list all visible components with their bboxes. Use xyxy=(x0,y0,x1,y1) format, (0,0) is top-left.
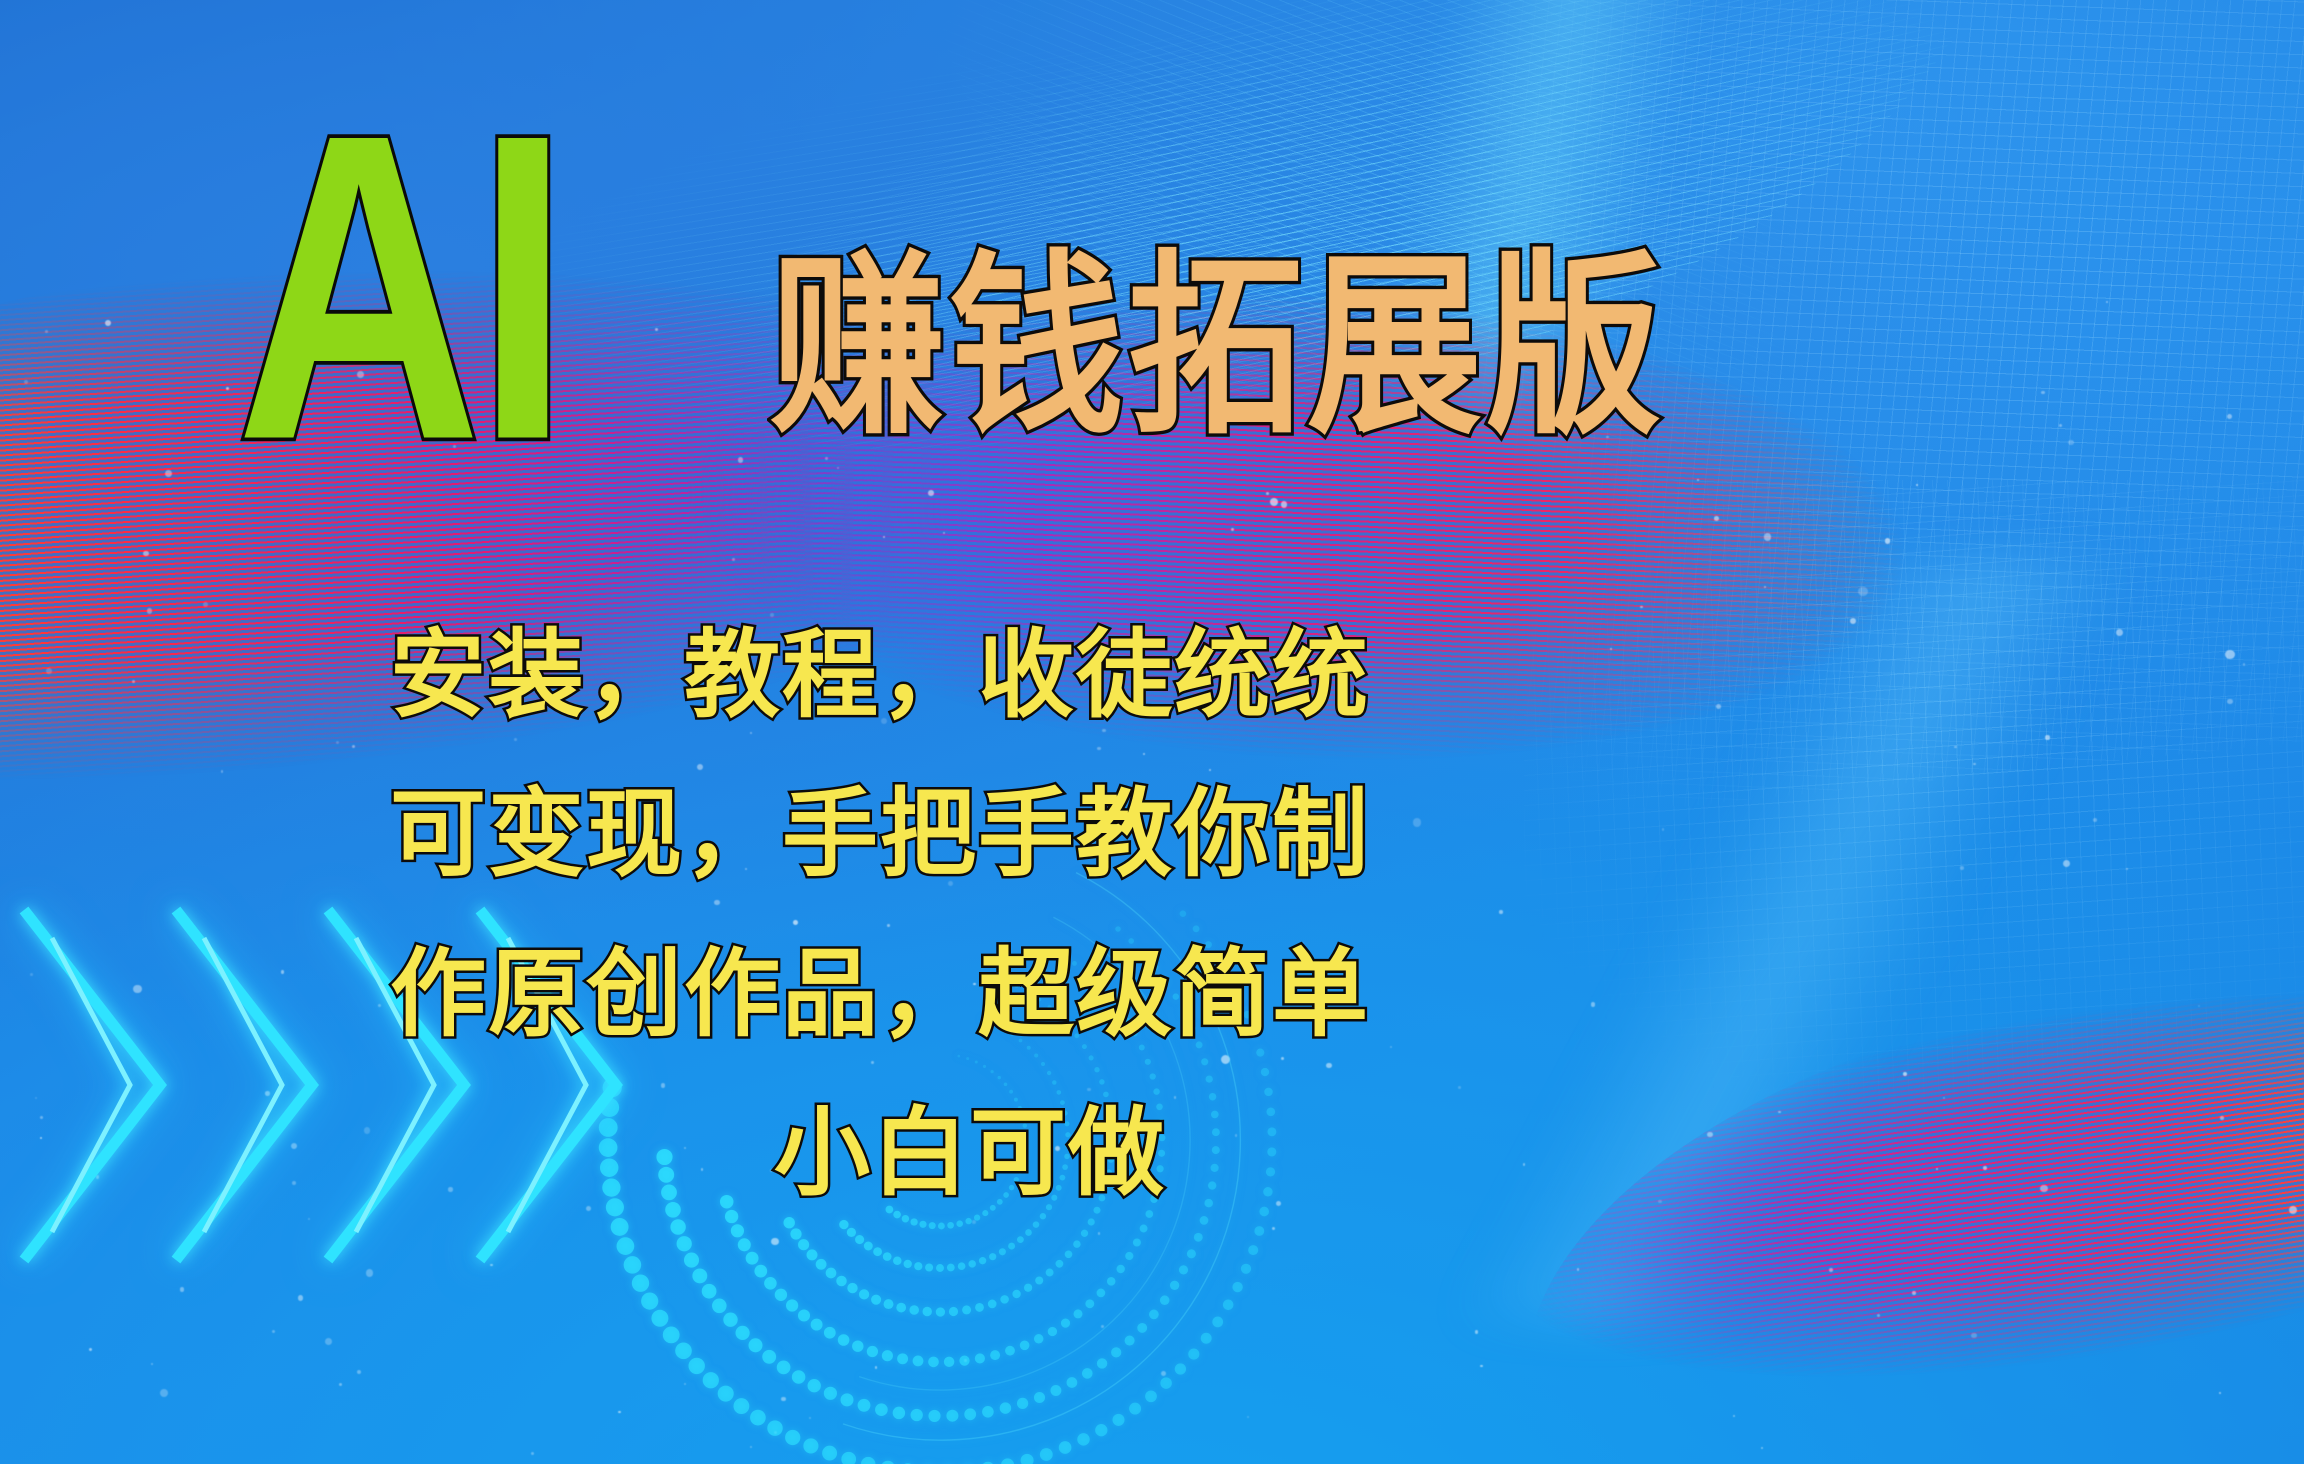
subtitle-line-3: 作原创作品，超级简单 xyxy=(0,915,1760,1074)
headline-block: AI 赚钱拓展版 安装，教程，收徒统统 可变现，手把手教你制 作原创作品，超级简… xyxy=(0,0,2304,1464)
promo-poster: AI 赚钱拓展版 安装，教程，收徒统统 可变现，手把手教你制 作原创作品，超级简… xyxy=(0,0,2304,1464)
subtitle-line-1: 安装，教程，收徒统统 xyxy=(0,596,1760,755)
subtitle-line-4: 小白可做 xyxy=(0,1074,1760,1233)
page-title: 赚钱拓展版 xyxy=(770,250,1665,446)
brand-word-ai: AI xyxy=(236,88,564,488)
subtitle-block: 安装，教程，收徒统统 可变现，手把手教你制 作原创作品，超级简单 小白可做 xyxy=(0,596,1760,1233)
subtitle-line-2: 可变现，手把手教你制 xyxy=(0,755,1760,914)
